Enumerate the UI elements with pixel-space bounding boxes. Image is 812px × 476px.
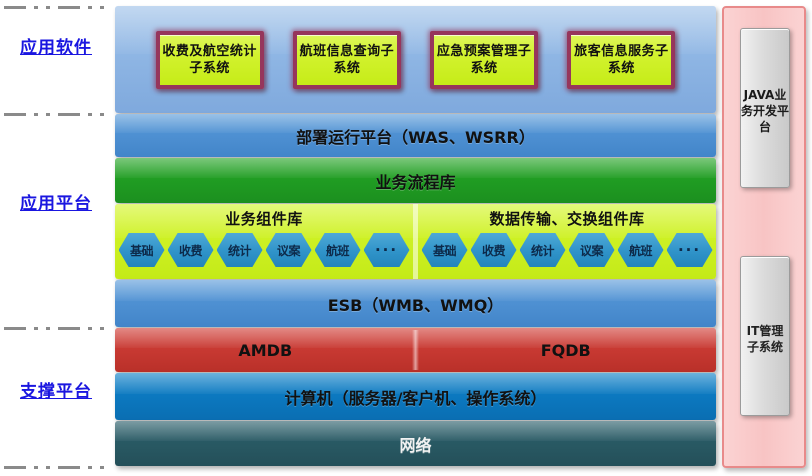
band-label-esb: ESB（WMB、WMQ）	[328, 292, 504, 316]
band-label-deployment-platform: 部署运行平台（WAS、WSRR）	[296, 124, 535, 148]
tier-label-line-1: 应用软件	[0, 38, 112, 59]
subsystem-row: 收费及航空统计子系统 航班信息查询子系统 应急预案管理子系统 旅客信息服务子系统	[115, 6, 716, 113]
chip-business-more[interactable]: ···	[364, 233, 410, 267]
java-dev-platform-box[interactable]: JAVA业务开发平台	[740, 28, 790, 188]
layer-stack: 收费及航空统计子系统 航班信息查询子系统 应急预案管理子系统 旅客信息服务子系统…	[115, 6, 716, 468]
component-chip-row-data-exchange: 基础 收费 统计 议案 航班 ···	[422, 233, 713, 267]
java-dev-platform-label: JAVA业务开发平台	[741, 87, 789, 135]
chip-business-stats[interactable]: 统计	[217, 233, 263, 267]
band-label-computer: 计算机（服务器/客户机、操作系统）	[285, 385, 547, 409]
band-application-software: 收费及航空统计子系统 航班信息查询子系统 应急预案管理子系统 旅客信息服务子系统	[115, 6, 716, 113]
tier-label-line-2: 应用平台	[0, 194, 112, 215]
architecture-diagram: 应用软件 应用平台 支撑平台 收费及航空统计子系统 航班信息查询子系统 应急预案…	[0, 0, 812, 476]
subsystem-box-toll-aviation-stats[interactable]: 收费及航空统计子系统	[156, 31, 264, 89]
component-library-split: 业务组件库 基础 收费 统计 议案 航班 ··· 数据传输、交换组件库 基础 收…	[115, 204, 716, 279]
component-chip-row-business: 基础 收费 统计 议案 航班 ···	[119, 233, 410, 267]
chip-data-more[interactable]: ···	[667, 233, 713, 267]
database-split: AMDB FQDB	[115, 328, 716, 372]
band-esb[interactable]: ESB（WMB、WMQ）	[115, 280, 716, 327]
chip-data-proposal[interactable]: 议案	[569, 233, 615, 267]
database-amdb[interactable]: AMDB	[115, 328, 416, 372]
component-library-business: 业务组件库 基础 收费 统计 议案 航班 ···	[115, 204, 413, 279]
band-deployment-platform[interactable]: 部署运行平台（WAS、WSRR）	[115, 114, 716, 157]
band-business-process-library[interactable]: 业务流程库	[115, 158, 716, 203]
tier-separator-bottom	[4, 466, 104, 469]
subsystem-box-flight-info-query[interactable]: 航班信息查询子系统	[293, 31, 401, 89]
chip-data-base[interactable]: 基础	[422, 233, 468, 267]
chip-business-toll[interactable]: 收费	[168, 233, 214, 267]
tier-label-support-platform: 支撑平台	[0, 382, 112, 403]
tier-separator-platform-support	[4, 327, 104, 330]
it-management-subsystem-box[interactable]: IT管理子系统	[740, 256, 790, 416]
right-side-panel: JAVA业务开发平台 IT管理子系统	[722, 6, 806, 468]
band-computer[interactable]: 计算机（服务器/客户机、操作系统）	[115, 373, 716, 420]
band-label-business-process-library: 业务流程库	[375, 169, 455, 193]
tier-separator-software-platform	[4, 113, 104, 116]
chip-data-flight[interactable]: 航班	[618, 233, 664, 267]
component-library-business-title: 业务组件库	[225, 208, 303, 229]
component-library-data-exchange-title: 数据传输、交换组件库	[489, 208, 644, 229]
band-network[interactable]: 网络	[115, 421, 716, 466]
chip-business-base[interactable]: 基础	[119, 233, 165, 267]
chip-data-toll[interactable]: 收费	[471, 233, 517, 267]
chip-business-flight[interactable]: 航班	[315, 233, 361, 267]
tier-label-application-software: 应用软件	[0, 38, 112, 59]
chip-data-stats[interactable]: 统计	[520, 233, 566, 267]
component-library-data-exchange: 数据传输、交换组件库 基础 收费 统计 议案 航班 ···	[413, 204, 716, 279]
tier-label-application-platform: 应用平台	[0, 194, 112, 215]
it-management-subsystem-label: IT管理子系统	[741, 323, 789, 355]
band-component-libraries: 业务组件库 基础 收费 统计 议案 航班 ··· 数据传输、交换组件库 基础 收…	[115, 204, 716, 279]
chip-business-proposal[interactable]: 议案	[266, 233, 312, 267]
subsystem-box-emergency-plan-mgmt[interactable]: 应急预案管理子系统	[430, 31, 538, 89]
band-databases: AMDB FQDB	[115, 328, 716, 372]
subsystem-box-passenger-info-service[interactable]: 旅客信息服务子系统	[567, 31, 675, 89]
tier-separator-top	[4, 6, 104, 9]
band-label-network: 网络	[399, 432, 431, 456]
tier-label-line-3: 支撑平台	[0, 382, 112, 403]
database-fqdb[interactable]: FQDB	[416, 328, 717, 372]
